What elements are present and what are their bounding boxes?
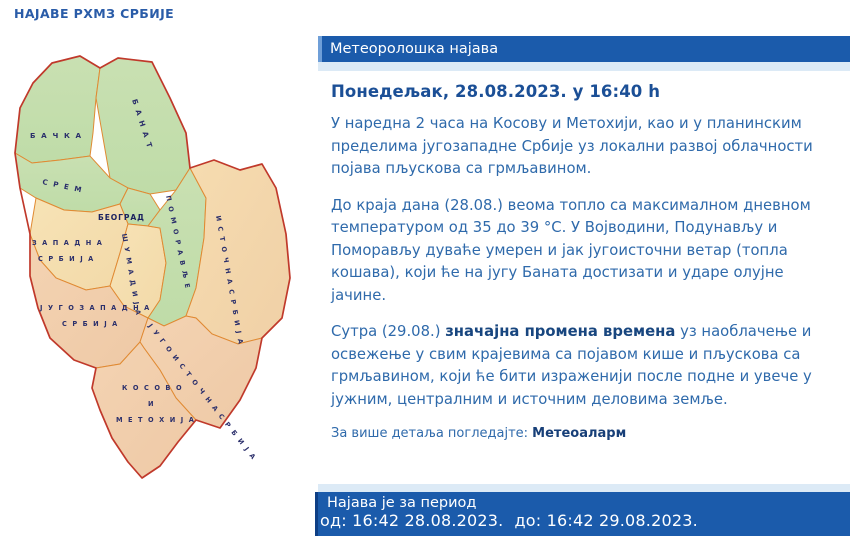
panel-footer-divider bbox=[318, 484, 850, 492]
region-label-kosovo-metohija-2: И bbox=[148, 400, 155, 408]
page-title: НАЈАВЕ РХМЗ СРБИЈЕ bbox=[14, 6, 174, 21]
region-label-zapadna-srbija-1: З А П А Д Н А bbox=[32, 239, 103, 247]
announcement-paragraph-3: Сутра (29.08.) значајна промена времена … bbox=[331, 321, 836, 411]
to-time: 16:42 bbox=[547, 511, 594, 530]
region-label-kosovo-metohija-1: К О С О В О bbox=[122, 384, 183, 392]
from-label: од: bbox=[320, 511, 347, 530]
panel-subbar-divider bbox=[318, 62, 850, 71]
region-backa[interactable] bbox=[15, 56, 100, 163]
paragraph-3-lead: Сутра (29.08.) bbox=[331, 323, 445, 340]
from-time: 16:42 bbox=[352, 511, 399, 530]
announcement-paragraph-2: До краја дана (28.08.) веома топло са ма… bbox=[331, 195, 836, 308]
more-details-line: За више детаља погледајте: Метеоаларм bbox=[331, 425, 836, 441]
more-details-prefix: За више детаља погледајте: bbox=[331, 426, 532, 441]
region-label-jugozapadna-srbija-1: Ј У Г О З А П А Д Н А bbox=[39, 304, 151, 312]
announcement-date-heading: Понедељак, 28.08.2023. у 16:40 h bbox=[331, 82, 836, 101]
to-label: до: bbox=[514, 511, 541, 530]
panel-header: Метеоролошка најава bbox=[318, 36, 850, 62]
validity-period-title: Најава је за период bbox=[318, 492, 850, 511]
serbia-regions-map[interactable]: Б А Ч К А Б А Н А Т С Р Е М БЕОГРАД З А … bbox=[0, 38, 310, 508]
validity-period-footer: Најава је за период од: 16:42 28.08.2023… bbox=[315, 492, 850, 536]
region-label-kosovo-metohija-3: М Е Т О Х И Ј А bbox=[116, 416, 195, 424]
from-date: 28.08.2023. bbox=[405, 511, 504, 530]
region-label-backa: Б А Ч К А bbox=[30, 131, 83, 140]
region-label-beograd: БЕОГРАД bbox=[98, 213, 145, 222]
meteo-announcement-panel: Метеоролошка најава Понедељак, 28.08.202… bbox=[311, 36, 850, 536]
paragraph-3-highlight: значајна промена времена bbox=[445, 323, 675, 340]
region-label-jugozapadna-srbija-2: С Р Б И Ј А bbox=[62, 320, 119, 328]
panel-header-title: Метеоролошка најава bbox=[322, 36, 850, 62]
to-date: 29.08.2023. bbox=[599, 511, 698, 530]
announcement-paragraph-1: У наредна 2 часа на Косову и Метохији, к… bbox=[331, 113, 836, 181]
region-label-zapadna-srbija-2: С Р Б И Ј А bbox=[38, 255, 95, 263]
validity-period-range: од: 16:42 28.08.2023.до: 16:42 29.08.202… bbox=[318, 511, 850, 530]
panel-body: Понедељак, 28.08.2023. у 16:40 h У наред… bbox=[318, 71, 850, 484]
map-svg: Б А Ч К А Б А Н А Т С Р Е М БЕОГРАД З А … bbox=[0, 38, 310, 508]
meteoalarm-link[interactable]: Метеоаларм bbox=[532, 426, 626, 441]
